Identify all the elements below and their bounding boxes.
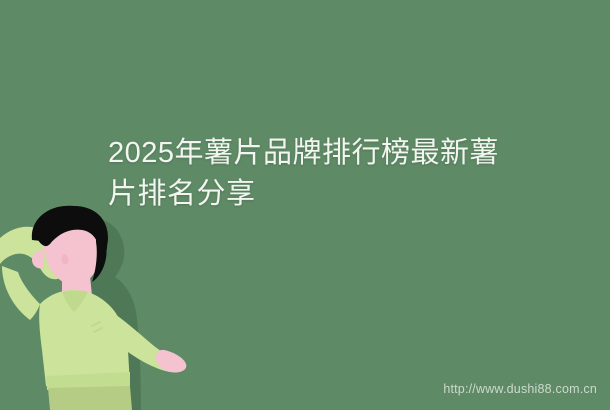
watermark-url: http://www.dushi88.com.cn [443,381,597,397]
pants [48,386,132,410]
page-title: 2025年薯片品牌排行榜最新薯片排名分享 [108,133,508,215]
cover-image-canvas: 2025年薯片品牌排行榜最新薯片排名分享 http://www.dushi88.… [0,0,610,410]
sweater-left-shoulder [2,266,40,320]
person-illustration [0,200,200,410]
